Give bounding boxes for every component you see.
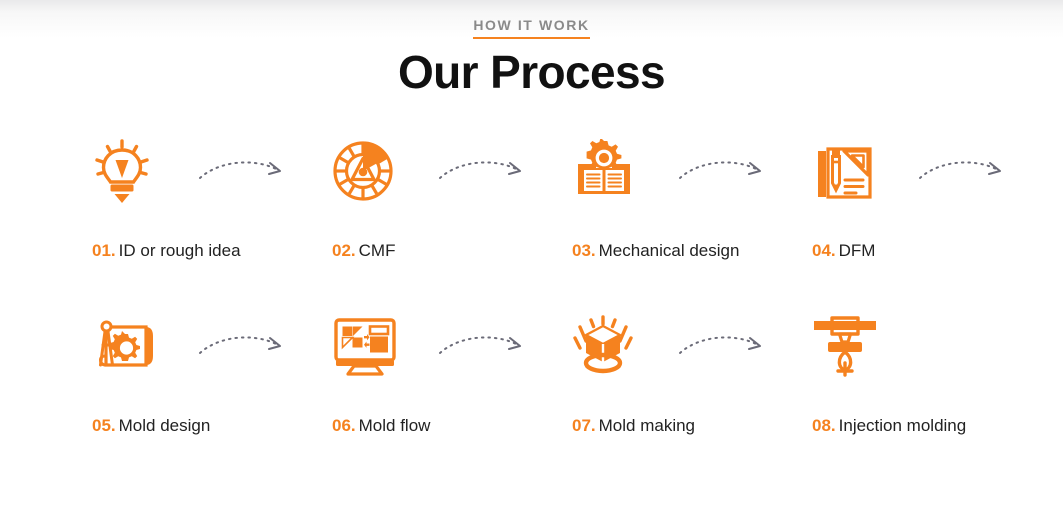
blueprint-pencil-ruler-icon: [812, 128, 898, 214]
step-number: 07.: [572, 416, 596, 435]
step-title: Injection molding: [839, 416, 967, 435]
step-number: 03.: [572, 241, 596, 260]
dashed-curved-arrow-icon: [916, 150, 1016, 190]
process-step-label: 01.ID or rough idea: [92, 240, 241, 262]
process-row-2: 05.Mold design: [0, 303, 1063, 478]
dashed-curved-arrow-icon: [436, 325, 536, 365]
book-gear-icon: [572, 128, 658, 214]
dashed-curved-arrow-icon: [436, 150, 536, 190]
process-step-label: 03.Mechanical design: [572, 240, 739, 262]
dashed-curved-arrow-icon: [676, 325, 776, 365]
process-step-label: 08.Injection molding: [812, 415, 966, 437]
eyebrow-wrapper: HOW IT WORK: [473, 17, 589, 39]
dashed-curved-arrow-icon: [676, 150, 776, 190]
step-number: 05.: [92, 416, 116, 435]
process-step-08[interactable]: 08.Injection molding: [812, 303, 1052, 389]
page-title: Our Process: [0, 45, 1063, 99]
process-step-label: 07.Mold making: [572, 415, 695, 437]
color-wheel-icon: [332, 128, 418, 214]
step-title: Mold flow: [359, 416, 431, 435]
process-row-1: 01.ID or rough idea: [0, 128, 1063, 303]
cube-mold-icon: [572, 303, 658, 389]
step-title: Mold design: [119, 416, 211, 435]
section-eyebrow: HOW IT WORK: [473, 17, 589, 33]
step-title: ID or rough idea: [119, 241, 241, 260]
dashed-curved-arrow-icon: [196, 325, 296, 365]
process-steps: 01.ID or rough idea: [0, 128, 1063, 478]
compass-gear-blueprint-icon: [92, 303, 178, 389]
step-number: 04.: [812, 241, 836, 260]
step-title: Mold making: [599, 416, 695, 435]
step-number: 08.: [812, 416, 836, 435]
process-step-label: 02.CMF: [332, 240, 395, 262]
step-title: Mechanical design: [599, 241, 740, 260]
step-number: 02.: [332, 241, 356, 260]
section-header: HOW IT WORK Our Process: [0, 0, 1063, 99]
process-step-label: 04.DFM: [812, 240, 875, 262]
dashed-curved-arrow-icon: [196, 150, 296, 190]
step-number: 06.: [332, 416, 356, 435]
step-title: CMF: [359, 241, 396, 260]
process-step-label: 06.Mold flow: [332, 415, 430, 437]
process-step-label: 05.Mold design: [92, 415, 210, 437]
lightbulb-idea-icon: [92, 128, 178, 214]
step-number: 01.: [92, 241, 116, 260]
monitor-design-icon: [332, 303, 418, 389]
injection-nozzle-icon: [812, 303, 898, 389]
eyebrow-underline: [473, 37, 589, 39]
step-title: DFM: [839, 241, 876, 260]
process-section: HOW IT WORK Our Process: [0, 0, 1063, 516]
